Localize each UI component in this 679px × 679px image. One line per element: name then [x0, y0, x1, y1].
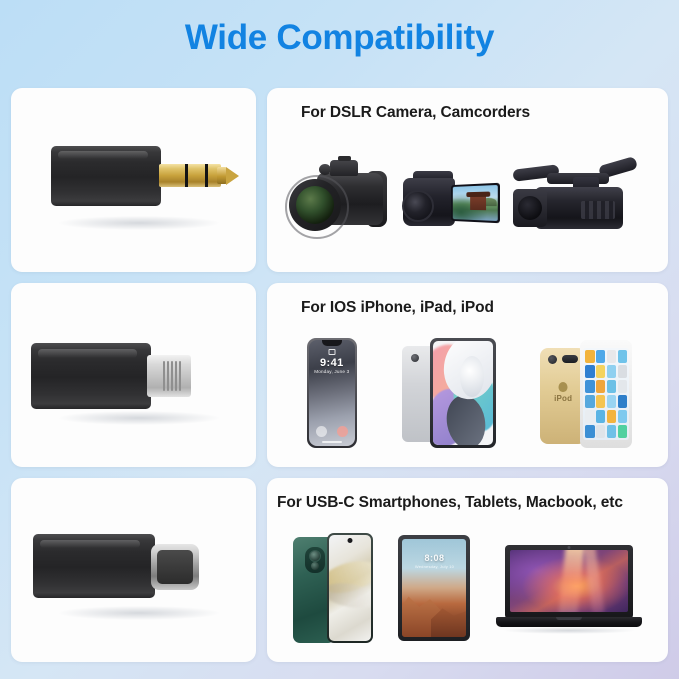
procam-lens-hood [513, 189, 547, 227]
camcorder-screen-pagoda [470, 196, 486, 210]
compatibility-row-usbc: For USB-C Smartphones, Tablets, Macbook,… [0, 478, 679, 662]
app-icon [596, 425, 605, 438]
adapter-image-usbc [11, 478, 256, 662]
app-icon [607, 365, 616, 378]
app-icon [618, 425, 627, 438]
tablet-screen: 8:08 Wednesday, July 10 [402, 539, 466, 637]
app-icon [585, 425, 594, 438]
lock-icon [328, 349, 335, 355]
flashlight-icon [316, 426, 327, 437]
adapter-card-usbc [11, 478, 256, 662]
device-card-usbc: For USB-C Smartphones, Tablets, Macbook,… [267, 478, 668, 662]
app-icon [618, 350, 627, 363]
trs-shaft [159, 164, 221, 187]
app-icon [618, 365, 627, 378]
app-icon [596, 410, 605, 423]
lightning-pin [175, 361, 177, 391]
lightning-pin [163, 361, 165, 391]
device-card-dslr: For DSLR Camera, Camcorders [267, 88, 668, 272]
adapter-body [51, 146, 161, 206]
app-icon [607, 380, 616, 393]
camcorder-icon [399, 160, 503, 238]
ipod-front-shell [580, 340, 632, 448]
adapter-shadow [59, 606, 219, 620]
ipad-front-shell [430, 338, 496, 448]
dslr-camera-icon [283, 151, 395, 247]
app-icon [585, 395, 594, 408]
camera-module-icon [305, 547, 325, 573]
laptop-base-notch [556, 617, 582, 620]
usb-c-plug-inner [157, 550, 193, 584]
adapter-image-trs [11, 88, 256, 272]
camcorder-screen-image [453, 185, 498, 221]
iphone-notch [322, 340, 342, 346]
compatibility-row-ios: For IOS iPhone, iPad, iPod 9:41 Monday, … [0, 283, 679, 467]
camcorder-lens [402, 190, 434, 222]
dslr-mode-dial [319, 164, 331, 175]
device-list-dslr [267, 132, 668, 272]
iphone-date: Monday, June 3 [309, 369, 355, 374]
app-icon [607, 425, 616, 438]
app-icon [618, 380, 627, 393]
adapter-card-lightning [11, 283, 256, 467]
adapter-shadow [59, 216, 219, 230]
punch-hole-camera-icon [347, 538, 352, 543]
iphone-time: 9:41 [309, 357, 355, 369]
tablet-frame: 8:08 Wednesday, July 10 [398, 535, 470, 641]
laptop-lid [505, 545, 633, 619]
page-title: Wide Compatibility [0, 18, 679, 58]
procam-controls [581, 201, 615, 219]
laptop-icon [496, 541, 642, 637]
adapter-body [31, 343, 151, 409]
ipod-screen [583, 348, 629, 440]
lightning-pin [167, 361, 169, 391]
android-front-shell [327, 533, 373, 643]
compatibility-rows: For DSLR Camera, Camcorders [0, 88, 679, 673]
camera-icon [337, 426, 348, 437]
adapter-body [33, 534, 155, 598]
device-list-usbc: 8:08 Wednesday, July 10 [267, 522, 668, 662]
ipod-rear-pill [562, 355, 578, 363]
adapter-card-trs [11, 88, 256, 272]
ipad-icon [402, 336, 498, 452]
app-icon [585, 350, 594, 363]
device-card-ios: For IOS iPhone, iPad, iPod 9:41 Monday, … [267, 283, 668, 467]
app-icon [607, 410, 616, 423]
iphone-home-indicator [322, 441, 342, 443]
apple-logo-icon [559, 382, 568, 392]
lightning-pins [163, 361, 185, 391]
app-icon [585, 410, 594, 423]
app-icon [618, 410, 627, 423]
trs-tip [226, 167, 239, 185]
app-icon [585, 380, 594, 393]
section-heading-ios: For IOS iPhone, iPad, iPod [301, 299, 494, 317]
iphone-screen: 9:41 Monday, June 3 [309, 340, 355, 446]
app-icon [618, 395, 627, 408]
adapter-image-lightning [11, 283, 256, 467]
ipad-rear-camera-icon [411, 354, 419, 362]
webcam-icon [568, 546, 571, 549]
lightning-pin [179, 361, 181, 391]
section-heading-dslr: For DSLR Camera, Camcorders [301, 104, 530, 122]
laptop-wallpaper-streak [583, 550, 604, 612]
camcorder-screen [451, 183, 500, 224]
app-icon [596, 380, 605, 393]
trs-band-1 [185, 164, 188, 187]
app-icon [607, 395, 616, 408]
tablet-clock: 8:08 [402, 553, 466, 563]
app-icon [596, 365, 605, 378]
tablet-date: Wednesday, July 10 [402, 564, 466, 569]
compatibility-row-dslr: For DSLR Camera, Camcorders [0, 88, 679, 272]
lightning-pin [171, 361, 173, 391]
laptop-screen [510, 550, 628, 612]
android-smartphone-icon [293, 533, 375, 645]
android-screen [329, 535, 371, 641]
iphone-icon: 9:41 Monday, June 3 [301, 338, 363, 450]
ipad-screen [433, 341, 493, 445]
app-icon [596, 350, 605, 363]
app-icon [585, 365, 594, 378]
device-list-ios: 9:41 Monday, June 3 [267, 327, 668, 467]
section-heading-usbc: For USB-C Smartphones, Tablets, Macbook,… [277, 494, 623, 512]
ipod-icon: iPod [538, 336, 634, 452]
dslr-lens-ring [285, 175, 349, 239]
app-icon [596, 395, 605, 408]
laptop-shadow [502, 627, 636, 634]
ipod-rear-camera-icon [548, 355, 557, 364]
adapter-shadow [59, 411, 219, 425]
trs-band-2 [205, 164, 208, 187]
ipad-wallpaper-swirl [460, 356, 484, 398]
iphone-frame: 9:41 Monday, June 3 [307, 338, 357, 448]
tablet-icon: 8:08 Wednesday, July 10 [398, 535, 472, 643]
app-icon [607, 350, 616, 363]
pro-video-camera-icon [507, 151, 652, 247]
dslr-hotshoe [338, 156, 351, 161]
laptop-wallpaper-streak [558, 550, 584, 612]
dslr-pentaprism [330, 160, 358, 176]
